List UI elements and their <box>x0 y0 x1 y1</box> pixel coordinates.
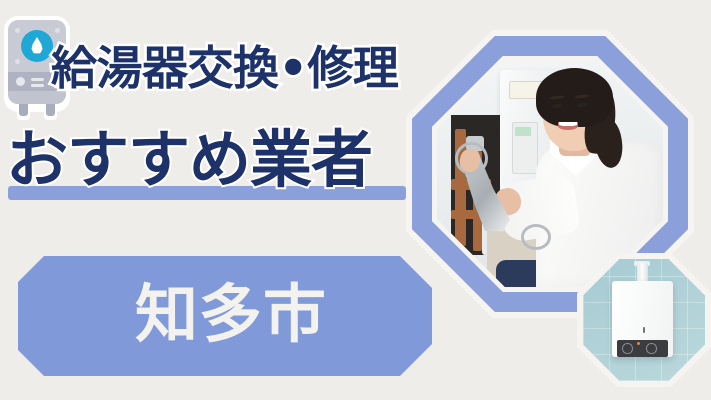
city-badge-label: 知多市 <box>135 283 327 346</box>
photo-boiler-slit <box>643 327 645 333</box>
headline-line-1: 給湯器交換•修理 <box>51 38 398 98</box>
photo-technician-bangs <box>543 75 593 104</box>
photo-boiler-knob <box>622 343 633 354</box>
headline-line-2: おすすめ業者 <box>6 122 372 198</box>
photo-boiler-knob <box>646 343 657 354</box>
photo-boiler-indicator <box>637 342 640 345</box>
water-heater-unit-photo <box>577 253 711 387</box>
photo-boiler-display <box>515 127 531 136</box>
headline-block: 給湯器交換•修理 おすすめ業者 <box>0 0 440 215</box>
banner-canvas: 給湯器交換•修理 おすすめ業者 知多市 <box>0 0 711 400</box>
photo-technician-teeth <box>559 122 577 126</box>
city-badge: 知多市 <box>18 256 432 376</box>
headline-line-2-wrap: おすすめ業者 <box>6 122 372 198</box>
